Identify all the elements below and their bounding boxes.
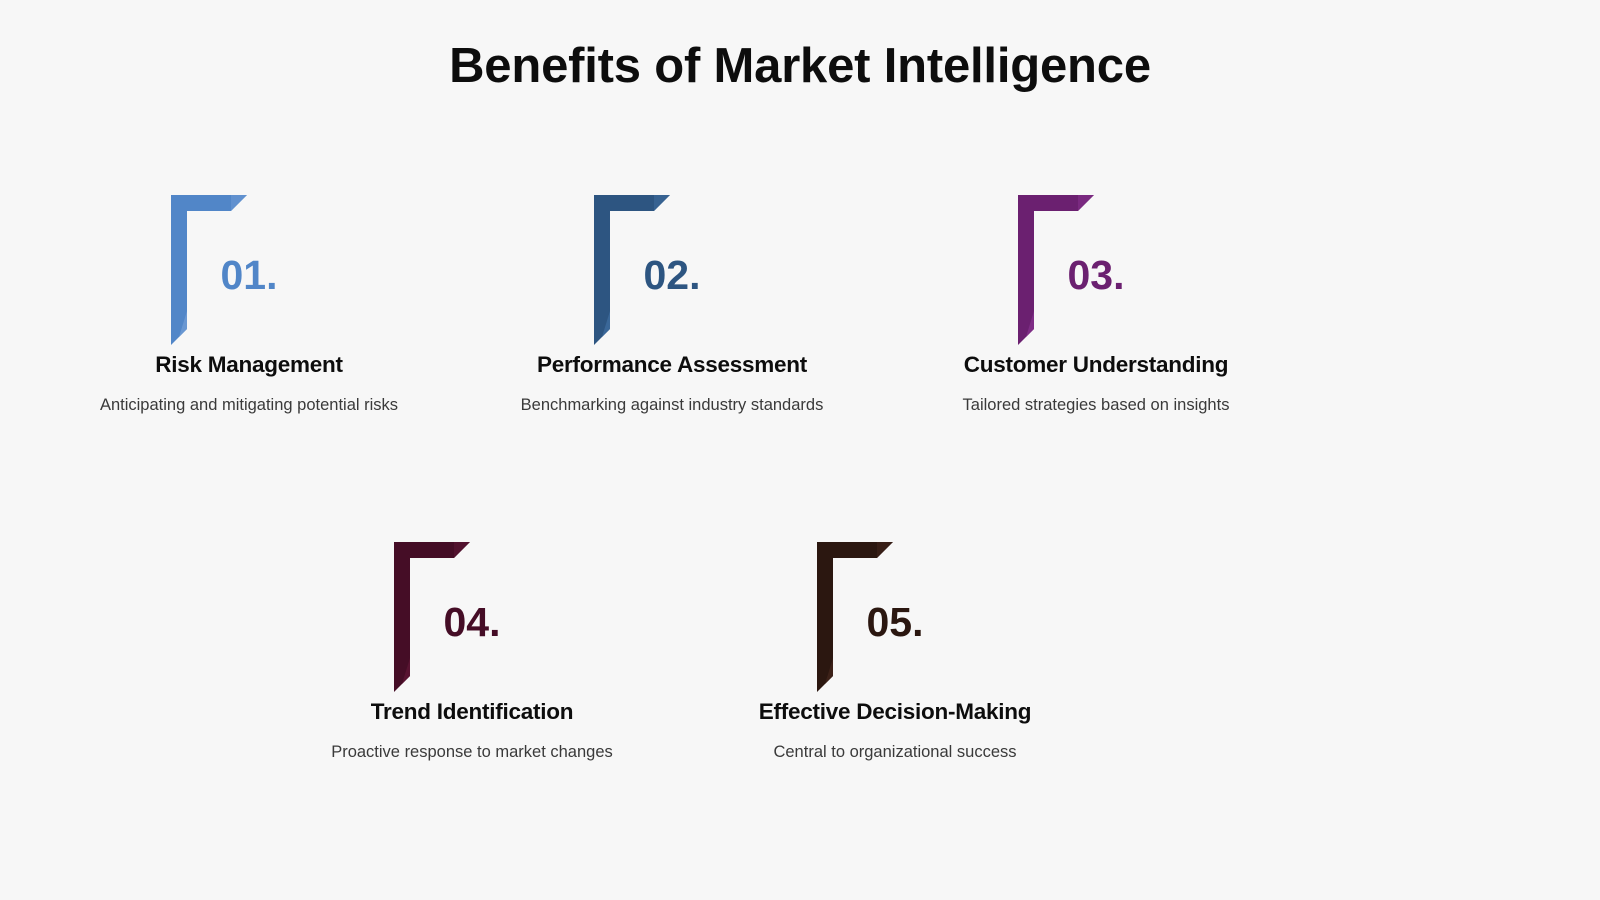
bracket-number-block: 02.: [502, 187, 842, 352]
card-description: Benchmarking against industry standards: [502, 391, 842, 419]
benefit-card: 01.Risk ManagementAnticipating and mitig…: [79, 187, 419, 419]
infographic-canvas: Benefits of Market Intelligence 01.Risk …: [0, 0, 1600, 900]
card-number: 03.: [926, 187, 1266, 296]
card-number: 01.: [79, 187, 419, 296]
card-title: Customer Understanding: [926, 352, 1266, 378]
card-title: Trend Identification: [302, 699, 642, 725]
benefit-card: 03.Customer UnderstandingTailored strate…: [926, 187, 1266, 419]
card-title: Risk Management: [79, 352, 419, 378]
benefit-card: 02.Performance AssessmentBenchmarking ag…: [502, 187, 842, 419]
card-title: Performance Assessment: [502, 352, 842, 378]
benefit-card: 05.Effective Decision-MakingCentral to o…: [725, 534, 1065, 766]
bracket-number-block: 04.: [302, 534, 642, 699]
card-number: 05.: [725, 534, 1065, 643]
bracket-number-block: 01.: [79, 187, 419, 352]
bracket-number-block: 05.: [725, 534, 1065, 699]
bracket-number-block: 03.: [926, 187, 1266, 352]
benefit-card: 04.Trend IdentificationProactive respons…: [302, 534, 642, 766]
card-description: Proactive response to market changes: [302, 738, 642, 766]
card-description: Tailored strategies based on insights: [926, 391, 1266, 419]
card-number: 02.: [502, 187, 842, 296]
card-description: Anticipating and mitigating potential ri…: [79, 391, 419, 419]
card-title: Effective Decision-Making: [725, 699, 1065, 725]
page-title: Benefits of Market Intelligence: [0, 38, 1600, 94]
card-description: Central to organizational success: [725, 738, 1065, 766]
card-number: 04.: [302, 534, 642, 643]
